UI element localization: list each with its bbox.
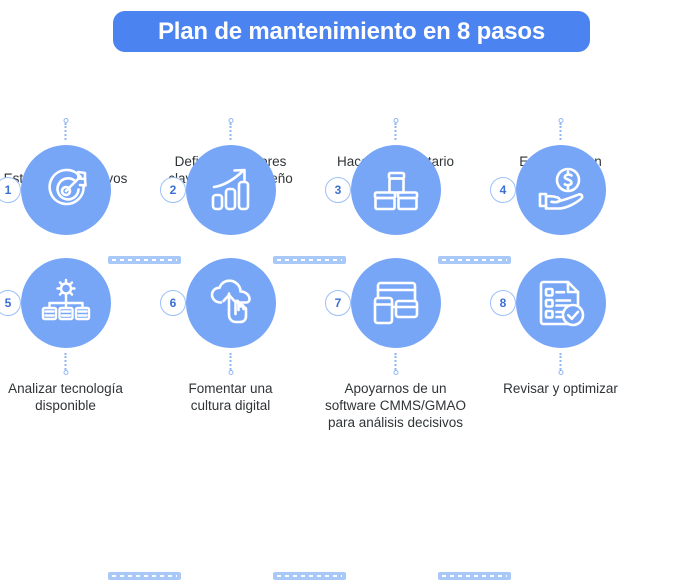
multi-device-screens-icon: [370, 277, 422, 329]
stem-end-dot-icon: [558, 370, 563, 375]
bar-chart-growth-icon: [205, 164, 257, 216]
connector-7-8: [438, 572, 511, 580]
stem-dotted-line: [230, 353, 232, 370]
step-circle-7[interactable]: [351, 258, 441, 348]
step-badge-6: 6: [160, 290, 186, 316]
step-item-4[interactable]: Establecer un presupuesto: [478, 70, 643, 255]
step-badge-8: 8: [490, 290, 516, 316]
step-label-5: Analizar tecnología disponible: [0, 380, 148, 414]
stem-dotted-line: [395, 123, 397, 140]
stem-end-dot-icon: [393, 370, 398, 375]
stem-7: [392, 353, 399, 375]
cloud-touch-hand-icon: [205, 277, 257, 329]
checklist-document-check-icon: [535, 277, 587, 329]
stem-dotted-line: [560, 353, 562, 370]
connector-5-6: [108, 572, 181, 580]
step-item-1[interactable]: Establecer Objetivos 1: [0, 70, 148, 255]
stem-end-dot-icon: [63, 370, 68, 375]
infographic-canvas: Plan de mantenimiento en 8 pasos Estable…: [0, 0, 700, 466]
step-item-6[interactable]: 6 Fomentar una cultura digital: [148, 258, 313, 458]
step-label-6: Fomentar una cultura digital: [148, 380, 313, 414]
step-item-3[interactable]: Hacer un inventario de activos: [313, 70, 478, 255]
step-item-8[interactable]: 8 Revisar y optimizar: [478, 258, 643, 458]
connector-1-2: [108, 256, 181, 264]
step-circle-8[interactable]: [516, 258, 606, 348]
steps-row-top: Establecer Objetivos 1: [0, 70, 700, 255]
hand-holding-dollar-icon: [535, 164, 587, 216]
step-circle-3[interactable]: [351, 145, 441, 235]
step-badge-1: 1: [0, 177, 21, 203]
step-item-2[interactable]: Definir indicadores clave de desempeño 2: [148, 70, 313, 255]
step-circle-6[interactable]: [186, 258, 276, 348]
step-item-5[interactable]: 5 Analizar tecnología disponible: [0, 258, 148, 458]
step-badge-2: 2: [160, 177, 186, 203]
step-badge-3: 3: [325, 177, 351, 203]
steps-row-bottom: 5 Analizar tecnología disponible 6: [0, 258, 700, 458]
page-title: Plan de mantenimiento en 8 pasos: [158, 18, 545, 46]
stem-8: [557, 353, 564, 375]
step-circle-2[interactable]: [186, 145, 276, 235]
step-label-8: Revisar y optimizar: [478, 380, 643, 397]
stem-dotted-line: [395, 353, 397, 370]
gear-network-servers-icon: [40, 277, 92, 329]
stem-4: [557, 118, 564, 140]
connector-3-4: [438, 256, 511, 264]
step-circle-4[interactable]: [516, 145, 606, 235]
page-title-banner: Plan de mantenimiento en 8 pasos: [113, 11, 590, 52]
stem-5: [62, 353, 69, 375]
stem-dotted-line: [560, 123, 562, 140]
step-label-7: Apoyarnos de un software CMMS/GMAO para …: [313, 380, 478, 431]
stem-dotted-line: [65, 353, 67, 370]
step-badge-5: 5: [0, 290, 21, 316]
target-arrow-icon: [40, 164, 92, 216]
stem-6: [227, 353, 234, 375]
step-badge-7: 7: [325, 290, 351, 316]
stem-dotted-line: [65, 123, 67, 140]
step-item-7[interactable]: 7 Apoyarnos de un software CMMS/GMAO par…: [313, 258, 478, 458]
stem-1: [62, 118, 69, 140]
connector-6-7: [273, 572, 346, 580]
step-badge-4: 4: [490, 177, 516, 203]
step-circle-1[interactable]: [21, 145, 111, 235]
stem-dotted-line: [230, 123, 232, 140]
connector-2-3: [273, 256, 346, 264]
stem-3: [392, 118, 399, 140]
stem-2: [227, 118, 234, 140]
stem-end-dot-icon: [228, 370, 233, 375]
step-circle-5[interactable]: [21, 258, 111, 348]
stacked-boxes-icon: [370, 164, 422, 216]
